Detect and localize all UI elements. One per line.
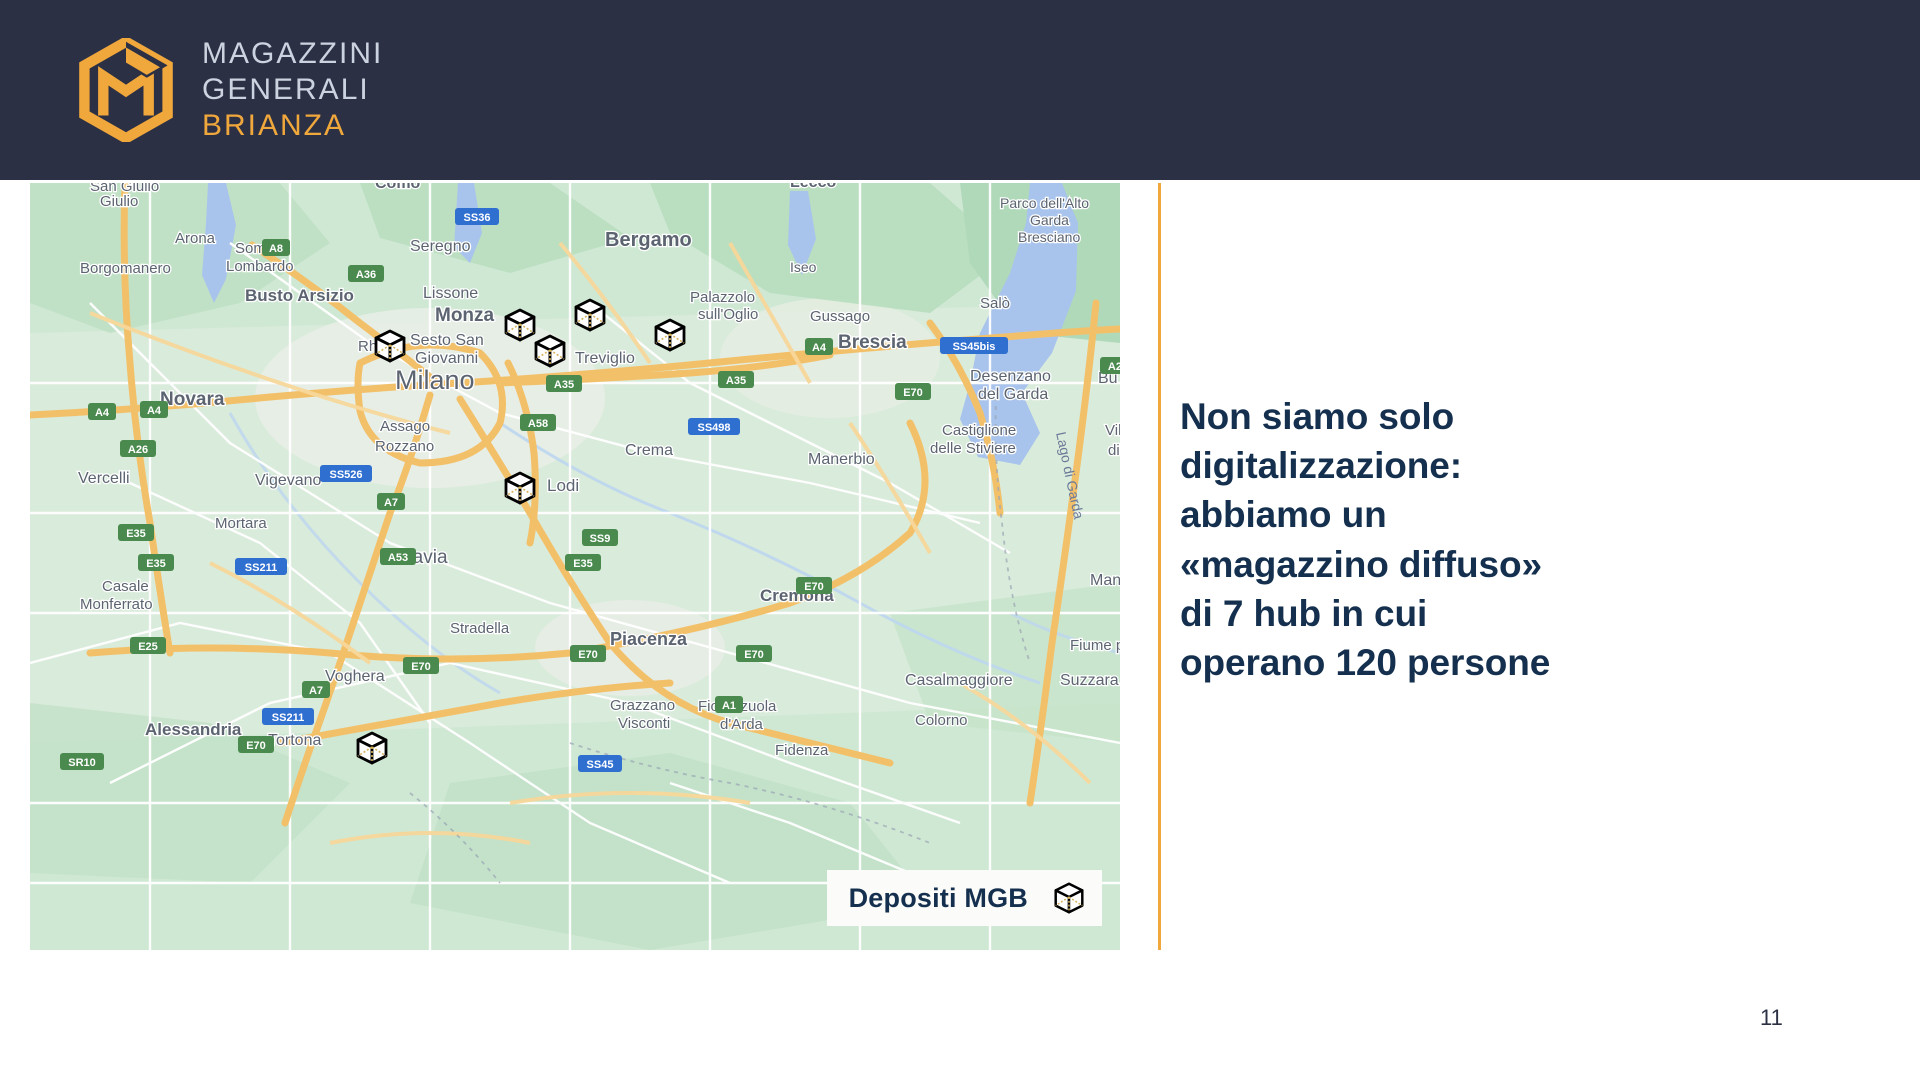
map-city-label: Stradella bbox=[450, 620, 510, 637]
map-image[interactable]: San GiulioGiulioAronaComoLeccoBorgomaner… bbox=[30, 183, 1120, 950]
svg-text:A35: A35 bbox=[726, 375, 746, 387]
map-city-label: Milano bbox=[395, 365, 475, 395]
svg-text:SS498: SS498 bbox=[697, 422, 730, 434]
brand-line-2: GENERALI bbox=[202, 72, 383, 108]
map-city-label: Mortara bbox=[215, 515, 267, 532]
svg-text:E70: E70 bbox=[578, 649, 598, 661]
map-city-label: Alessandria bbox=[145, 720, 242, 739]
map-city-label: Castiglione bbox=[942, 422, 1016, 439]
map-city-label: Garda bbox=[1030, 212, 1069, 228]
map-city-label: Grazzano bbox=[610, 697, 675, 714]
map-city-label: Novara bbox=[160, 389, 225, 410]
map-road-shield: SS9 bbox=[582, 529, 618, 546]
map-road-shield: E70 bbox=[796, 577, 832, 594]
map-city-label: Rozzano bbox=[375, 438, 434, 455]
map-road-shield: SS45bis bbox=[940, 337, 1008, 354]
map-city-label: Monferrato bbox=[80, 596, 153, 613]
map-marker-cube-icon[interactable] bbox=[370, 326, 410, 366]
map-city-label: Salò bbox=[980, 295, 1010, 312]
map-city-label: Bergamo bbox=[605, 229, 692, 251]
map-road-shield: A35 bbox=[546, 375, 582, 392]
map-road-shield: A58 bbox=[520, 414, 556, 431]
map-city-label: Colorno bbox=[915, 712, 968, 729]
map-city-label: Borgomanero bbox=[80, 260, 171, 277]
cube-icon bbox=[1050, 879, 1088, 917]
map-road-shield: E70 bbox=[570, 645, 606, 662]
map-city-label: Crema bbox=[625, 442, 673, 459]
map-road-shield: SS45 bbox=[578, 755, 622, 772]
brand-wordmark: MAGAZZINI GENERALI BRIANZA bbox=[202, 36, 383, 144]
map-city-label: Suzzara bbox=[1060, 672, 1119, 689]
map-city-label: Lissone bbox=[423, 285, 478, 302]
page-number: 11 bbox=[1760, 1005, 1783, 1031]
map-road-shield: E35 bbox=[138, 554, 174, 571]
header-bar: MAGAZZINI GENERALI BRIANZA bbox=[0, 0, 1920, 180]
map-road-shield: E35 bbox=[118, 524, 154, 541]
map-city-label: Monza bbox=[435, 305, 495, 326]
map-road-shield: A4 bbox=[805, 338, 833, 355]
brand-line-1: MAGAZZINI bbox=[202, 36, 383, 72]
svg-text:SR10: SR10 bbox=[68, 757, 96, 769]
svg-text:A4: A4 bbox=[812, 342, 827, 354]
map-road-shield: SS36 bbox=[455, 208, 499, 225]
map-road-shield: A35 bbox=[718, 371, 754, 388]
map-marker-cube-icon[interactable] bbox=[352, 728, 392, 768]
map-road-shield: A26 bbox=[120, 440, 156, 457]
brand-line-3: BRIANZA bbox=[202, 108, 383, 144]
svg-text:A4: A4 bbox=[95, 407, 110, 419]
map-city-label: del Garda bbox=[978, 386, 1048, 403]
map-city-label: Lodi bbox=[547, 476, 579, 495]
map-road-shield: A7 bbox=[377, 493, 405, 510]
map-city-label: Iseo bbox=[790, 259, 817, 275]
svg-text:E70: E70 bbox=[246, 740, 266, 752]
svg-text:E35: E35 bbox=[126, 528, 146, 540]
map-road-shield: SS211 bbox=[235, 558, 287, 575]
map-city-label: Casalmaggiore bbox=[905, 672, 1013, 689]
map-marker-cube-icon[interactable] bbox=[570, 295, 610, 335]
map-road-shield: A53 bbox=[380, 548, 416, 565]
map-road-shield: A1 bbox=[715, 696, 743, 713]
svg-text:SS45bis: SS45bis bbox=[953, 341, 996, 353]
map-city-label: delle Stiviere bbox=[930, 440, 1016, 457]
map-city-label: Manerbio bbox=[808, 451, 875, 468]
map-city-label: Brescia bbox=[838, 332, 907, 353]
map-city-label: Seregno bbox=[410, 238, 471, 255]
map-road-shield: SS211 bbox=[262, 708, 314, 725]
map-city-label: Arona bbox=[175, 230, 216, 247]
map-road-shield: E70 bbox=[736, 645, 772, 662]
svg-text:A58: A58 bbox=[528, 418, 548, 430]
map-city-label: Desenzano bbox=[970, 368, 1051, 385]
map-city-label: Vercelli bbox=[78, 470, 130, 487]
svg-text:A7: A7 bbox=[384, 497, 398, 509]
map-road-shield: SS526 bbox=[320, 465, 372, 482]
map-city-label: Mante bbox=[1090, 572, 1120, 589]
svg-text:E70: E70 bbox=[744, 649, 764, 661]
map-marker-cube-icon[interactable] bbox=[500, 468, 540, 508]
map-road-shield: E35 bbox=[565, 554, 601, 571]
svg-text:E70: E70 bbox=[903, 387, 923, 399]
svg-text:E70: E70 bbox=[804, 581, 824, 593]
map-city-label: Como bbox=[375, 183, 421, 192]
map-marker-cube-icon[interactable] bbox=[650, 315, 690, 355]
legend-label: Depositi MGB bbox=[849, 883, 1028, 914]
hexagon-m-logo-icon bbox=[78, 38, 174, 142]
map-city-label: Fidenza bbox=[775, 742, 829, 759]
svg-text:A22: A22 bbox=[1108, 361, 1120, 373]
svg-text:A53: A53 bbox=[388, 552, 408, 564]
map-city-label: Tortona bbox=[268, 732, 321, 749]
map-city-label: Assago bbox=[380, 418, 430, 435]
svg-text:A4: A4 bbox=[147, 405, 162, 417]
vertical-divider bbox=[1158, 183, 1161, 950]
map-road-shield: SS498 bbox=[688, 418, 740, 435]
svg-text:E70: E70 bbox=[411, 661, 431, 673]
map-city-label: Treviglio bbox=[575, 350, 635, 367]
map-city-label: Voghera bbox=[325, 668, 385, 685]
svg-text:SS45: SS45 bbox=[587, 759, 614, 771]
map-road-shield: E70 bbox=[895, 383, 931, 400]
map-legend: Depositi MGB bbox=[827, 870, 1102, 926]
svg-text:SS526: SS526 bbox=[329, 469, 362, 481]
map-road-shield: A4 bbox=[140, 401, 168, 418]
map-city-label: Vigevano bbox=[255, 472, 322, 489]
svg-text:SS9: SS9 bbox=[590, 533, 611, 545]
map-city-label: Casale bbox=[102, 578, 149, 595]
map-road-shield: A22 bbox=[1100, 357, 1120, 374]
svg-text:A35: A35 bbox=[554, 379, 574, 391]
map-city-label: di bbox=[1108, 442, 1120, 459]
map-road-shield: A4 bbox=[88, 403, 116, 420]
map-road-shield: SR10 bbox=[60, 753, 104, 770]
map-city-label: Gussago bbox=[810, 308, 870, 325]
map-road-shield: A36 bbox=[348, 265, 384, 282]
svg-text:SS211: SS211 bbox=[245, 562, 277, 574]
map-city-label: Busto Arsizio bbox=[245, 286, 354, 305]
map-city-label: Palazzolo bbox=[690, 289, 755, 306]
svg-text:A7: A7 bbox=[309, 685, 323, 697]
svg-text:SS211: SS211 bbox=[272, 712, 304, 724]
map-city-label: Giulio bbox=[100, 193, 138, 210]
svg-text:E35: E35 bbox=[573, 558, 593, 570]
map-city-label: Vil bbox=[1105, 422, 1120, 439]
map-marker-cube-icon[interactable] bbox=[530, 331, 570, 371]
map-city-label: Piacenza bbox=[610, 629, 688, 649]
svg-text:E25: E25 bbox=[138, 641, 158, 653]
svg-text:SS36: SS36 bbox=[464, 212, 491, 224]
map-city-label: Fiume p bbox=[1070, 637, 1120, 654]
svg-text:A26: A26 bbox=[128, 444, 148, 456]
map-city-label: Parco dell'Alto bbox=[1000, 195, 1089, 211]
svg-text:E35: E35 bbox=[146, 558, 166, 570]
svg-text:A1: A1 bbox=[722, 700, 736, 712]
headline-text: Non siamo solo digitalizzazione: abbiamo… bbox=[1180, 392, 1560, 687]
map-road-shield: E70 bbox=[238, 736, 274, 753]
map-road-shield: A7 bbox=[302, 681, 330, 698]
map-city-label: Bresciano bbox=[1018, 229, 1080, 245]
svg-text:A36: A36 bbox=[356, 269, 376, 281]
map-city-label: Lecco bbox=[790, 183, 836, 191]
map-road-shield: E70 bbox=[403, 657, 439, 674]
map-city-label: d'Arda bbox=[720, 716, 764, 733]
map-city-label: Visconti bbox=[618, 715, 670, 732]
map-road-shield: A8 bbox=[262, 239, 290, 256]
map-city-label: Lombardo bbox=[226, 258, 294, 275]
map-city-label: sull'Oglio bbox=[698, 306, 758, 323]
brand-logo: MAGAZZINI GENERALI BRIANZA bbox=[78, 36, 383, 144]
map-road-shield: E25 bbox=[130, 637, 166, 654]
map-city-label: Sesto San bbox=[410, 332, 484, 349]
svg-text:A8: A8 bbox=[269, 243, 283, 255]
